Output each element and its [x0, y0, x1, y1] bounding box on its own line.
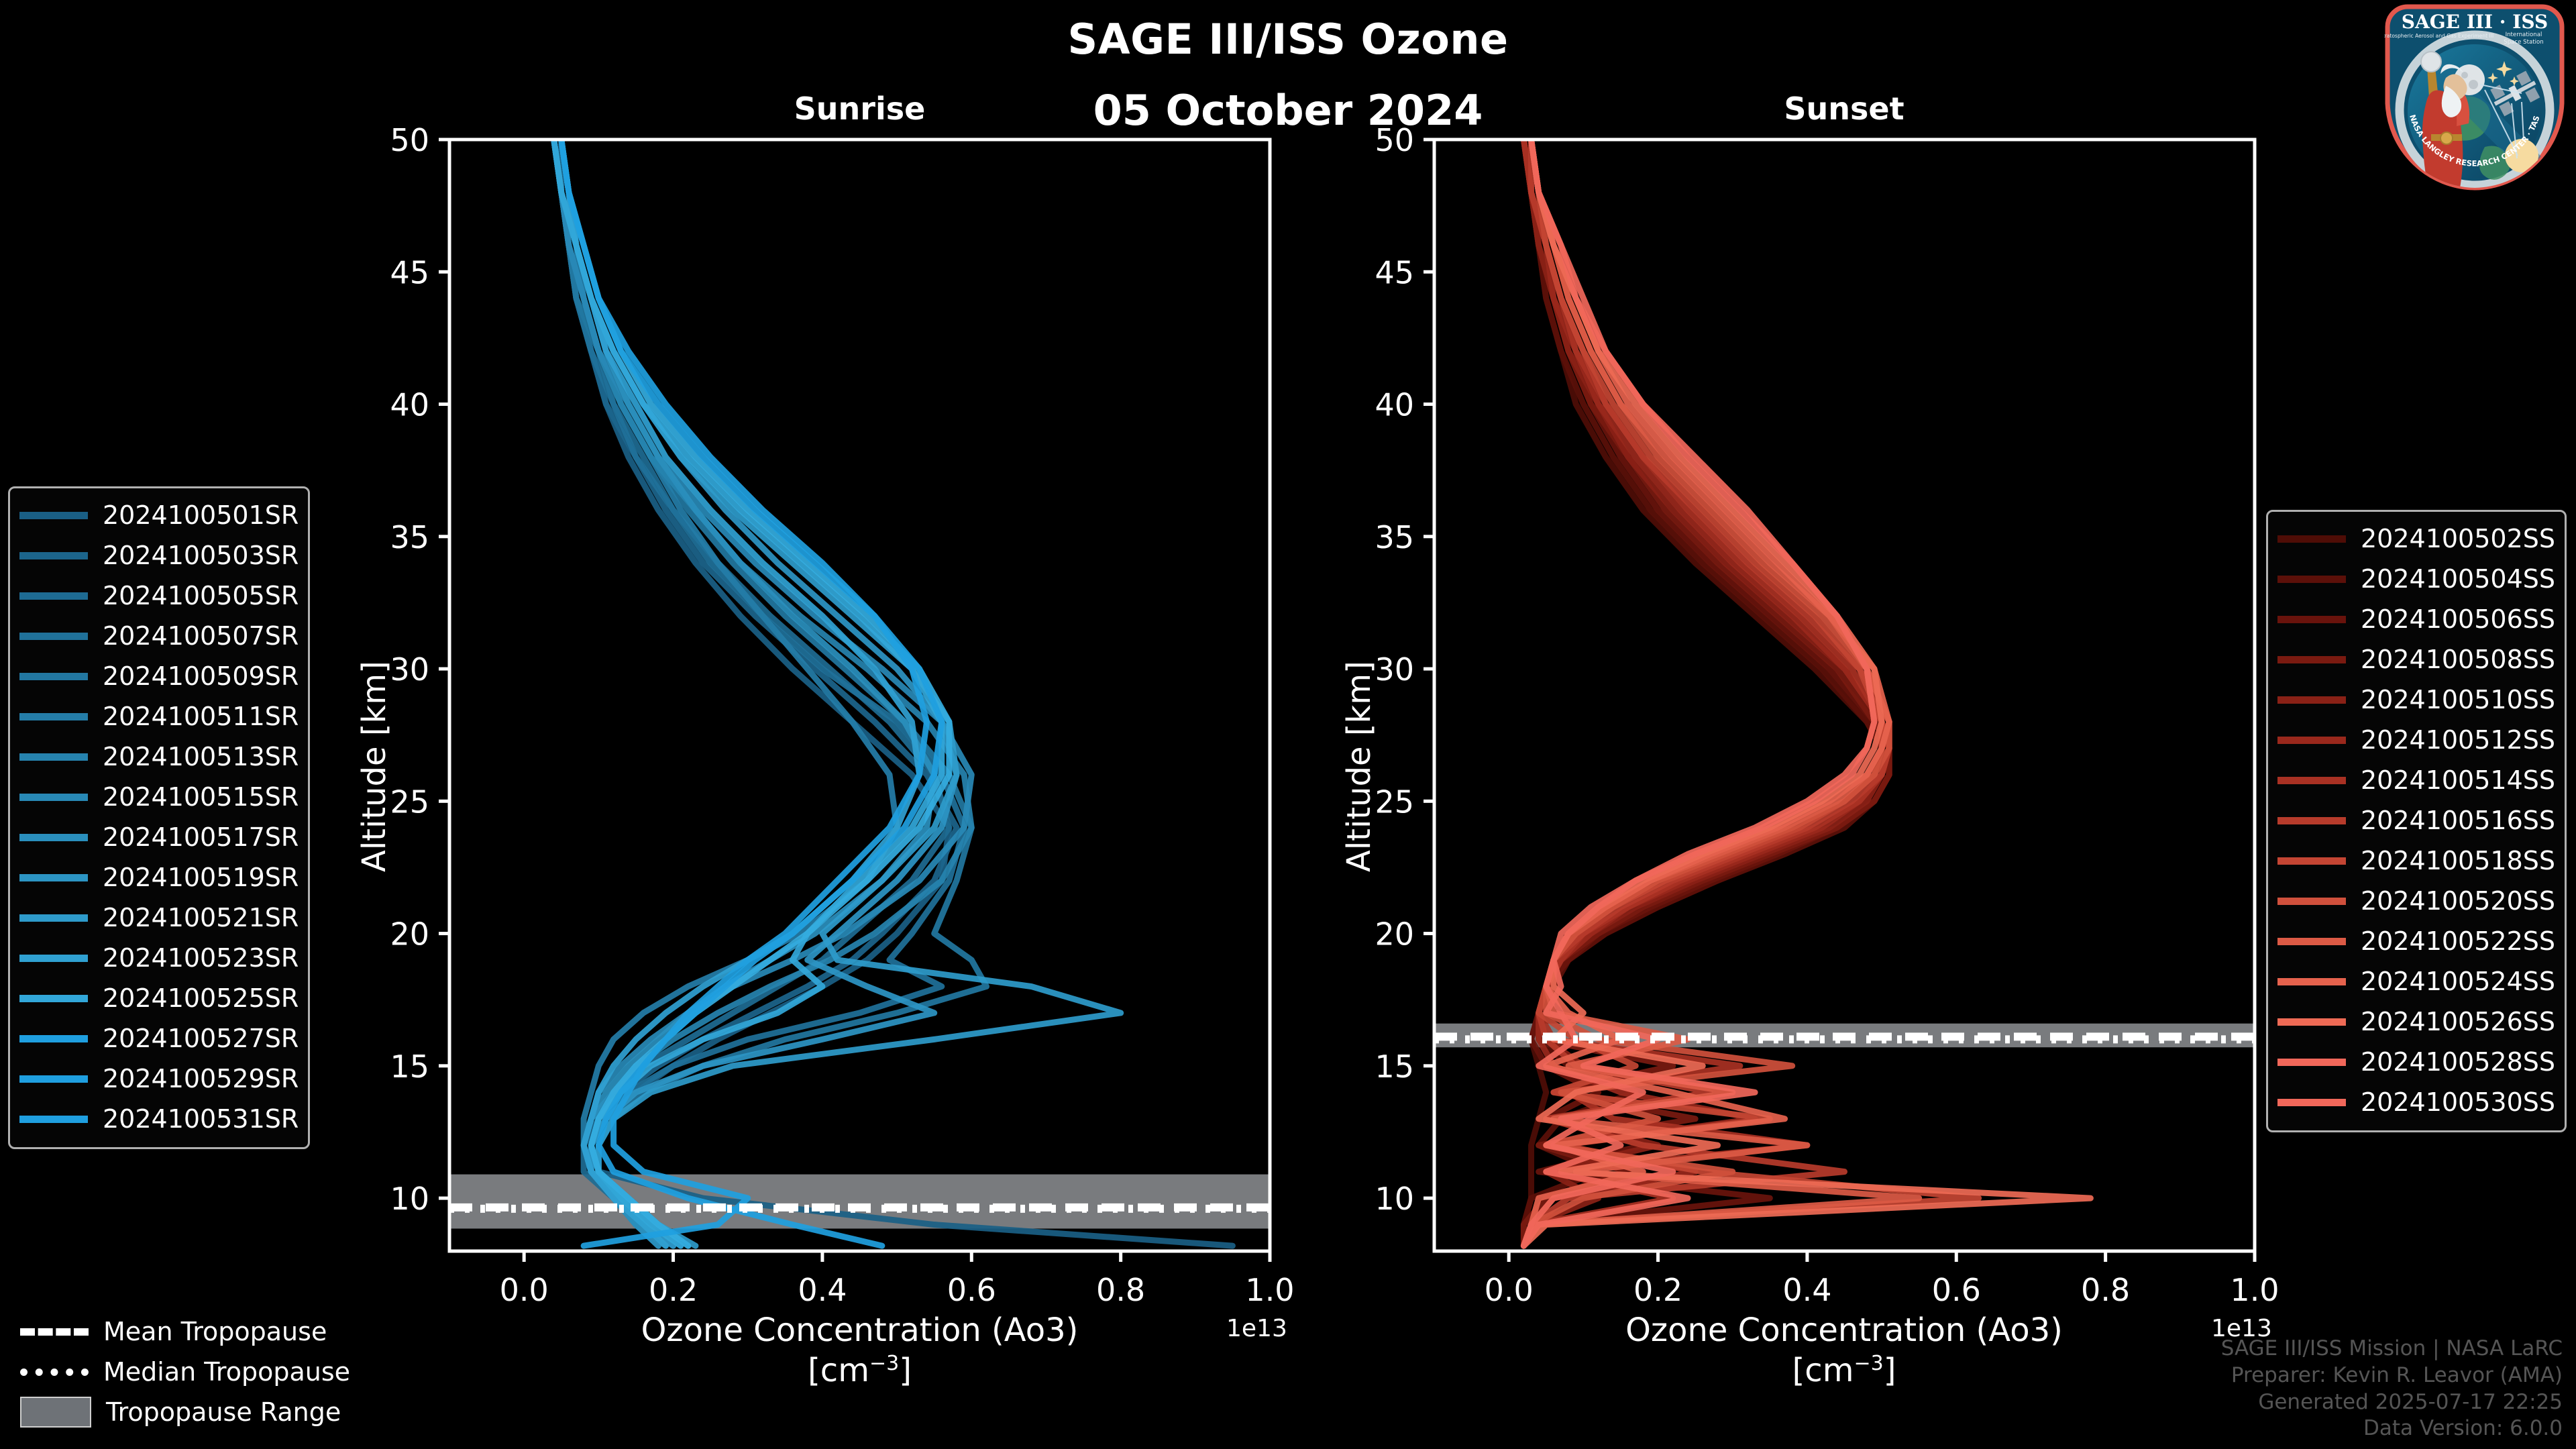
legend-label: 2024100514SS — [2361, 765, 2555, 795]
legend-label: 2024100503SR — [103, 541, 299, 570]
x-tick-label: 0.0 — [500, 1272, 549, 1308]
tropopause-range-band — [449, 1175, 1270, 1229]
legend-item[interactable]: 2024100530SS — [2277, 1082, 2555, 1122]
legend-color-swatch-icon — [2277, 777, 2346, 784]
legend-label: 2024100530SS — [2361, 1087, 2555, 1117]
right-x-axis-units: [cm−3] — [1434, 1352, 2254, 1389]
legend-label: 2024100531SR — [103, 1104, 299, 1134]
x-tick-label: 0.8 — [2081, 1272, 2130, 1308]
y-tick-label: 45 — [390, 254, 429, 290]
legend-label-median-tropopause: Median Tropopause — [103, 1357, 350, 1387]
legend-color-swatch-icon — [19, 794, 88, 801]
legend-color-swatch-icon — [19, 995, 88, 1002]
legend-label: 2024100527SR — [103, 1024, 299, 1053]
sunset-plot: 0.00.20.40.60.81.0101520253035404550 — [1360, 121, 2313, 1315]
legend-item[interactable]: 2024100510SS — [2277, 680, 2555, 720]
legend-color-swatch-icon — [2277, 817, 2346, 824]
dashed-line-icon — [20, 1328, 89, 1336]
logo-subtitle-right-1: International — [2506, 32, 2542, 38]
legend-label: 2024100501SR — [103, 500, 299, 530]
left-x-axis-units: [cm−3] — [449, 1352, 1270, 1389]
legend-label: 2024100506SS — [2361, 604, 2555, 634]
legend-item[interactable]: 2024100522SS — [2277, 921, 2555, 961]
band-swatch-icon — [20, 1397, 91, 1428]
y-tick-label: 40 — [1375, 387, 1414, 423]
legend-item[interactable]: 2024100523SR — [19, 938, 299, 978]
x-tick-label: 0.6 — [1932, 1272, 1981, 1308]
y-tick-label: 25 — [390, 784, 429, 820]
legend-label: 2024100502SS — [2361, 524, 2555, 553]
moon-crater-2-icon — [2469, 80, 2478, 89]
legend-item[interactable]: 2024100527SR — [19, 1018, 299, 1059]
y-tick-label: 50 — [1375, 122, 1414, 158]
legend-color-swatch-icon — [2277, 535, 2346, 543]
x-tick-label: 0.0 — [1485, 1272, 1534, 1308]
y-tick-label: 30 — [1375, 651, 1414, 688]
legend-color-swatch-icon — [19, 1116, 88, 1123]
legend-label: 2024100516SS — [2361, 806, 2555, 835]
legend-item[interactable]: 2024100512SS — [2277, 720, 2555, 760]
legend-item-median-tropopause[interactable]: Median Tropopause — [20, 1352, 350, 1392]
credit-generated: Generated 2025-07-17 22:25 — [2221, 1389, 2563, 1416]
x-tick-label: 0.6 — [947, 1272, 996, 1308]
legend-color-swatch-icon — [19, 753, 88, 761]
y-tick-label: 15 — [1375, 1049, 1414, 1085]
right-x-axis-label-text: Ozone Concentration (Ao3) — [1625, 1311, 2063, 1349]
legend-color-swatch-icon — [19, 592, 88, 600]
legend-color-swatch-icon — [19, 1035, 88, 1042]
sunset-legend[interactable]: 2024100502SS2024100504SS2024100506SS2024… — [2266, 510, 2567, 1132]
legend-color-swatch-icon — [19, 834, 88, 841]
legend-item[interactable]: 2024100501SR — [19, 495, 299, 535]
legend-color-swatch-icon — [2277, 576, 2346, 583]
legend-color-swatch-icon — [2277, 1099, 2346, 1106]
legend-item[interactable]: 2024100515SR — [19, 777, 299, 817]
legend-color-swatch-icon — [2277, 737, 2346, 744]
legend-label: 2024100520SS — [2361, 886, 2555, 916]
credit-preparer: Preparer: Kevin R. Leavor (AMA) — [2221, 1362, 2563, 1389]
legend-label: 2024100525SR — [103, 983, 299, 1013]
legend-color-swatch-icon — [19, 512, 88, 519]
y-tick-label: 15 — [390, 1049, 429, 1085]
legend-label: 2024100504SS — [2361, 564, 2555, 594]
y-tick-label: 50 — [390, 122, 429, 158]
legend-color-swatch-icon — [2277, 616, 2346, 623]
legend-item[interactable]: 2024100518SS — [2277, 841, 2555, 881]
legend-label: 2024100510SS — [2361, 685, 2555, 714]
legend-item[interactable]: 2024100511SR — [19, 696, 299, 737]
legend-color-swatch-icon — [19, 673, 88, 680]
y-tick-label: 35 — [390, 519, 429, 555]
x-tick-label: 0.4 — [1782, 1272, 1831, 1308]
legend-label: 2024100524SS — [2361, 967, 2555, 996]
legend-color-swatch-icon — [19, 633, 88, 640]
legend-item-tropopause-range[interactable]: Tropopause Range — [20, 1392, 350, 1432]
legend-item[interactable]: 2024100507SR — [19, 616, 299, 656]
legend-color-swatch-icon — [2277, 978, 2346, 985]
legend-color-swatch-icon — [2277, 898, 2346, 905]
legend-item[interactable]: 2024100503SR — [19, 535, 299, 576]
legend-label: 2024100522SS — [2361, 926, 2555, 956]
legend-label: 2024100521SR — [103, 903, 299, 932]
legend-label: 2024100508SS — [2361, 645, 2555, 674]
y-tick-label: 20 — [1375, 916, 1414, 953]
legend-item[interactable]: 2024100505SR — [19, 576, 299, 616]
legend-label: 2024100507SR — [103, 621, 299, 651]
legend-color-swatch-icon — [19, 1075, 88, 1083]
sunrise-plot: 0.00.20.40.60.81.0101520253035404550 — [376, 121, 1328, 1315]
legend-color-swatch-icon — [19, 955, 88, 962]
logo-title: SAGE III · ISS — [2402, 11, 2548, 33]
legend-item[interactable]: 2024100531SR — [19, 1099, 299, 1139]
y-tick-label: 40 — [390, 387, 429, 423]
legend-item[interactable]: 2024100517SR — [19, 817, 299, 857]
left-x-axis-label-text: Ozone Concentration (Ao3) — [641, 1311, 1079, 1349]
y-tick-label: 45 — [1375, 254, 1414, 290]
page-title: SAGE III/ISS Ozone — [0, 15, 2576, 64]
logo-subtitle-left: Stratospheric Aerosol and Gas Experiment… — [2384, 33, 2493, 39]
legend-label-tropopause-range: Tropopause Range — [106, 1397, 341, 1427]
legend-item[interactable]: 2024100529SR — [19, 1059, 299, 1099]
legend-label: 2024100518SS — [2361, 846, 2555, 875]
legend-label: 2024100512SS — [2361, 725, 2555, 755]
legend-item[interactable]: 2024100526SS — [2277, 1002, 2555, 1042]
right-y-axis-label: Altitude [km] — [1340, 661, 1378, 872]
legend-label: 2024100528SS — [2361, 1047, 2555, 1077]
legend-label: 2024100523SR — [103, 943, 299, 973]
legend-item[interactable]: 2024100516SS — [2277, 800, 2555, 841]
legend-item[interactable]: 2024100509SR — [19, 656, 299, 696]
legend-label: 2024100511SR — [103, 702, 299, 731]
sage-iii-iss-mission-patch-logo: SAGE III · ISS Stratospheric Aerosol and… — [2384, 3, 2565, 192]
legend-item[interactable]: 2024100506SS — [2277, 599, 2555, 639]
legend-label-mean-tropopause: Mean Tropopause — [103, 1317, 327, 1346]
credit-mission: SAGE III/ISS Mission | NASA LaRC — [2221, 1336, 2563, 1362]
x-tick-label: 0.8 — [1096, 1272, 1145, 1308]
x-tick-label: 0.4 — [798, 1272, 847, 1308]
credit-data-version: Data Version: 6.0.0 — [2221, 1415, 2563, 1442]
legend-item[interactable]: 2024100514SS — [2277, 760, 2555, 800]
logo-subtitle-right-2: Space Station — [2504, 39, 2543, 46]
legend-label: 2024100513SR — [103, 742, 299, 771]
legend-item[interactable]: 2024100525SR — [19, 978, 299, 1018]
left-x-axis-label: Ozone Concentration (Ao3) [cm−3] — [449, 1311, 1270, 1389]
y-tick-label: 35 — [1375, 519, 1414, 555]
credits-block: SAGE III/ISS Mission | NASA LaRC Prepare… — [2221, 1336, 2563, 1442]
legend-color-swatch-icon — [19, 874, 88, 881]
legend-label: 2024100517SR — [103, 822, 299, 852]
legend-label: 2024100515SR — [103, 782, 299, 812]
y-tick-label: 30 — [390, 651, 429, 688]
legend-item[interactable]: 2024100521SR — [19, 898, 299, 938]
legend-item[interactable]: 2024100508SS — [2277, 639, 2555, 680]
sunrise-legend[interactable]: 2024100501SR2024100503SR2024100505SR2024… — [8, 486, 310, 1149]
legend-item[interactable]: 2024100519SR — [19, 857, 299, 898]
legend-item[interactable]: 2024100528SS — [2277, 1042, 2555, 1082]
legend-label: 2024100505SR — [103, 581, 299, 610]
left-y-axis-label: Altitude [km] — [356, 661, 393, 872]
legend-color-swatch-icon — [2277, 696, 2346, 704]
legend-item[interactable]: 2024100513SR — [19, 737, 299, 777]
legend-color-swatch-icon — [19, 914, 88, 922]
legend-item[interactable]: 2024100524SS — [2277, 961, 2555, 1002]
y-tick-label: 20 — [390, 916, 429, 953]
y-tick-label: 10 — [1375, 1181, 1414, 1217]
moon-crater-icon — [2461, 72, 2468, 78]
legend-color-swatch-icon — [2277, 656, 2346, 663]
legend-color-swatch-icon — [19, 552, 88, 559]
legend-label: 2024100519SR — [103, 863, 299, 892]
tropopause-legend[interactable]: Mean Tropopause Median Tropopause Tropop… — [20, 1311, 350, 1432]
x-tick-label: 0.2 — [1633, 1272, 1682, 1308]
left-exponent-label: 1e13 — [1226, 1315, 1287, 1342]
right-x-axis-label: Ozone Concentration (Ao3) [cm−3] — [1434, 1311, 2254, 1389]
legend-label: 2024100529SR — [103, 1064, 299, 1093]
legend-item-mean-tropopause[interactable]: Mean Tropopause — [20, 1311, 350, 1352]
legend-color-swatch-icon — [19, 713, 88, 720]
dotted-line-icon — [20, 1368, 89, 1376]
legend-label: 2024100509SR — [103, 661, 299, 691]
legend-item[interactable]: 2024100520SS — [2277, 881, 2555, 921]
x-tick-label: 1.0 — [1245, 1272, 1294, 1308]
legend-label: 2024100526SS — [2361, 1007, 2555, 1036]
x-tick-label: 1.0 — [2230, 1272, 2279, 1308]
x-tick-label: 0.2 — [649, 1272, 698, 1308]
legend-color-swatch-icon — [2277, 938, 2346, 945]
y-tick-label: 10 — [390, 1181, 429, 1217]
legend-item[interactable]: 2024100502SS — [2277, 519, 2555, 559]
legend-item[interactable]: 2024100504SS — [2277, 559, 2555, 599]
y-tick-label: 25 — [1375, 784, 1414, 820]
legend-color-swatch-icon — [2277, 857, 2346, 865]
legend-color-swatch-icon — [2277, 1059, 2346, 1066]
legend-color-swatch-icon — [2277, 1018, 2346, 1026]
